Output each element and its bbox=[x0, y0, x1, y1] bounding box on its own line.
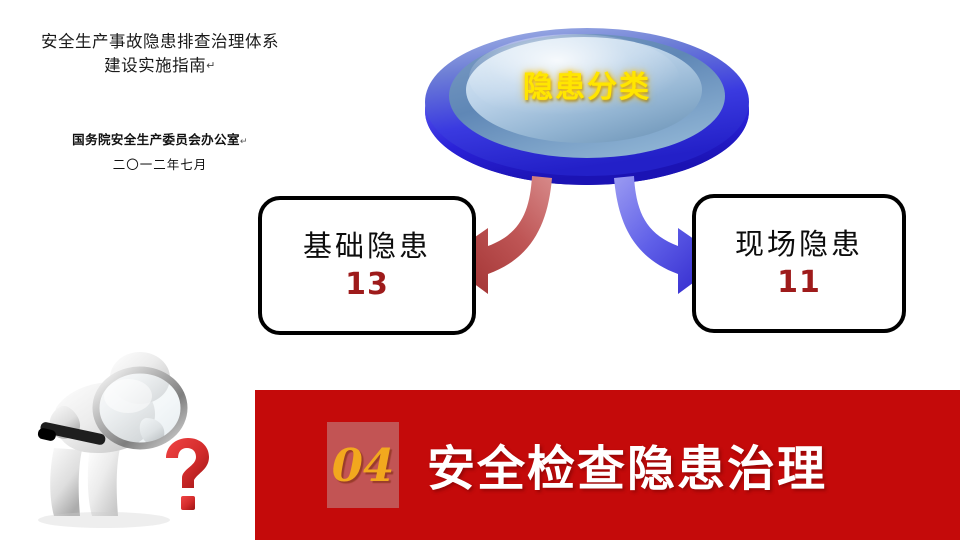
pilcrow-mark-issuer: ↵ bbox=[240, 136, 248, 146]
hazard-classification-disc: 隐患分类 bbox=[424, 16, 750, 188]
document-title-block: 安全生产事故隐患排查治理体系 建设实施指南↵ bbox=[0, 30, 320, 78]
category-count-onsite: 11 bbox=[777, 268, 821, 298]
document-title-line1: 安全生产事故隐患排查治理体系 bbox=[0, 30, 320, 54]
person-with-magnifier-illustration bbox=[18, 336, 228, 532]
document-issuer-text: 国务院安全生产委员会办公室 bbox=[72, 133, 240, 147]
document-title-line2: 建设实施指南↵ bbox=[0, 54, 320, 78]
document-issuer-block: 国务院安全生产委员会办公室↵ 二〇一二年七月 bbox=[0, 129, 320, 173]
category-name-onsite: 现场隐患 bbox=[735, 230, 863, 259]
document-title-line2-text: 建设实施指南 bbox=[104, 56, 206, 75]
category-box-basic-hazard[interactable]: 基础隐患 13 bbox=[258, 196, 476, 335]
section-number: 04 bbox=[332, 439, 395, 492]
section-banner: 04 安全检查隐患治理 bbox=[255, 390, 960, 540]
category-box-onsite-hazard[interactable]: 现场隐患 11 bbox=[692, 194, 906, 333]
slide-canvas: 安全生产事故隐患排查治理体系 建设实施指南↵ 国务院安全生产委员会办公室↵ 二〇… bbox=[0, 0, 960, 540]
section-number-tile: 04 bbox=[327, 422, 399, 508]
document-date: 二〇一二年七月 bbox=[0, 154, 320, 173]
category-count-basic: 13 bbox=[345, 270, 389, 300]
category-name-basic: 基础隐患 bbox=[303, 232, 431, 261]
document-issuer: 国务院安全生产委员会办公室↵ bbox=[0, 129, 320, 148]
section-title: 安全检查隐患治理 bbox=[427, 418, 827, 510]
pilcrow-mark: ↵ bbox=[206, 59, 216, 72]
